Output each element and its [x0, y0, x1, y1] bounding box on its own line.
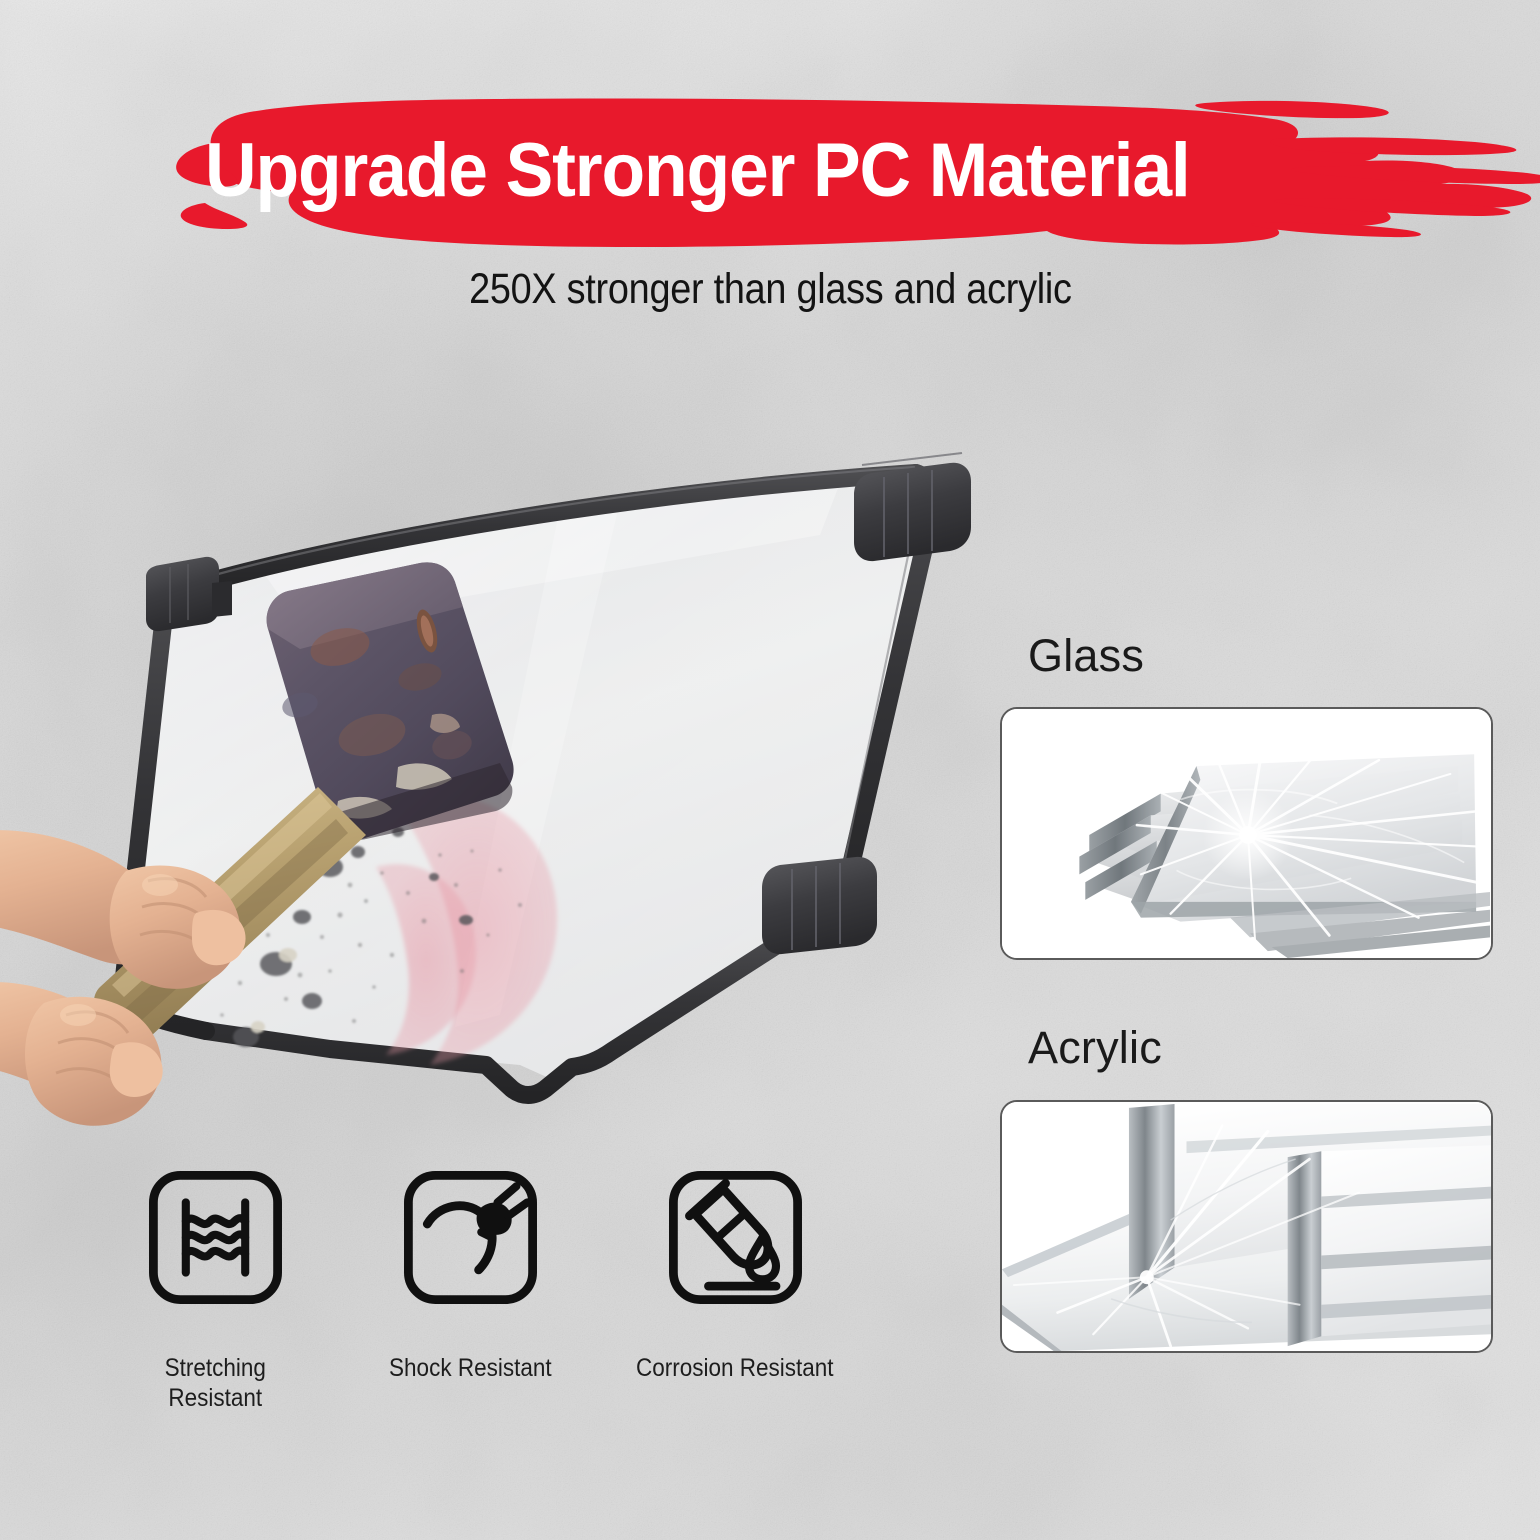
- page-subtitle-text: 250X stronger than glass and acrylic: [469, 265, 1072, 314]
- stretching-resistant-icon: [148, 1170, 283, 1305]
- feature-list: Stretching Resistant: [95, 1170, 915, 1410]
- shattered-glass-icon: [1002, 709, 1491, 958]
- mount-clip-lower-right: [762, 857, 877, 954]
- page-subtitle: 250X stronger than glass and acrylic: [0, 265, 1540, 314]
- page-title: Upgrade Stronger PC Material: [205, 133, 1333, 209]
- feature-label-corrosion-text: Corrosion Resistant: [636, 1353, 834, 1384]
- comparison-panel-glass: [1000, 707, 1493, 960]
- comparison-panel-acrylic: [1000, 1100, 1493, 1353]
- comparison-label-glass: Glass: [1028, 630, 1144, 682]
- feature-item-shock: Shock Resistant: [350, 1170, 590, 1383]
- hero-product-scene: [0, 415, 1000, 1145]
- comparison-label-acrylic: Acrylic: [1028, 1022, 1162, 1074]
- shock-resistant-icon: [403, 1170, 538, 1305]
- feature-item-stretching: Stretching Resistant: [95, 1170, 335, 1414]
- corrosion-resistant-icon: [668, 1170, 803, 1305]
- feature-label-shock: Shock Resistant: [350, 1322, 590, 1383]
- poster-canvas: Upgrade Stronger PC Material 250X strong…: [0, 0, 1540, 1540]
- cracked-acrylic-icon: [1002, 1102, 1491, 1351]
- feature-label-shock-text: Shock Resistant: [389, 1353, 552, 1384]
- feature-item-corrosion: Corrosion Resistant: [615, 1170, 855, 1383]
- feature-label-stretching: Stretching Resistant: [95, 1322, 335, 1414]
- feature-label-corrosion: Corrosion Resistant: [615, 1322, 855, 1383]
- feature-label-stretching-text: Stretching Resistant: [164, 1353, 265, 1414]
